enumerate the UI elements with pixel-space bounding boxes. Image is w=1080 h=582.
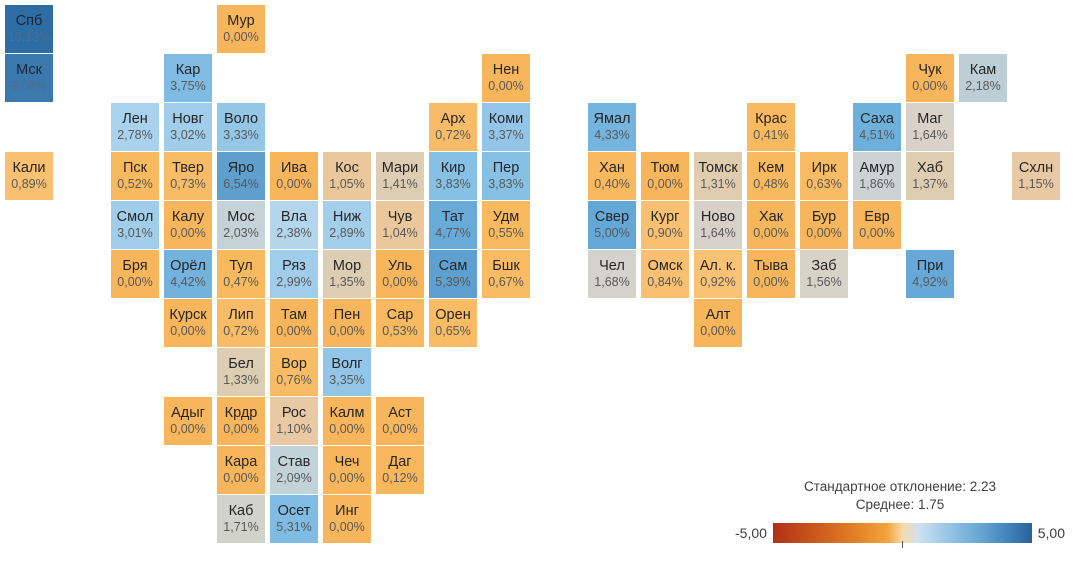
region-tile-label: Кали [12, 160, 45, 177]
region-tile-label: Хаб [917, 160, 943, 177]
region-tile-value: 2,89% [329, 226, 364, 241]
region-tile[interactable]: Ирк0,63% [800, 152, 848, 200]
chart-legend: Стандартное отклонение: 2.23 Среднее: 1.… [735, 478, 1065, 558]
region-tile-value: 0,72% [435, 128, 470, 143]
region-tile-label: Ал. к. [700, 258, 737, 275]
region-tile-value: 0,12% [382, 471, 417, 486]
region-tile[interactable]: Мск9,08% [5, 54, 53, 102]
region-tile-value: 6,54% [223, 177, 258, 192]
region-tile[interactable]: Бря0,00% [111, 250, 159, 298]
region-tile-label: Амур [860, 160, 895, 177]
region-tile[interactable]: Тат4,77% [429, 201, 477, 249]
region-tile-value: 4,42% [170, 275, 205, 290]
region-tile-label: Ново [701, 209, 735, 226]
region-tile[interactable]: Чук0,00% [906, 54, 954, 102]
region-tile-label: Маг [917, 111, 943, 128]
region-tile-value: 0,00% [329, 520, 364, 535]
region-tile-label: Лен [122, 111, 148, 128]
region-tile-value: 1,71% [223, 520, 258, 535]
region-tile[interactable]: Сар0,53% [376, 299, 424, 347]
region-tile[interactable]: Пен0,00% [323, 299, 371, 347]
region-tile-value: 9,08% [11, 79, 46, 94]
region-tile-label: Ряз [282, 258, 306, 275]
region-tile-label: Тыва [754, 258, 788, 275]
region-tile-value: 0,48% [753, 177, 788, 192]
region-tile[interactable]: Нен0,00% [482, 54, 530, 102]
region-tile-value: 1,68% [594, 275, 629, 290]
region-tile-label: Ниж [333, 209, 361, 226]
region-tile[interactable]: Саха4,51% [853, 103, 901, 151]
region-tile-value: 0,00% [382, 275, 417, 290]
region-tile[interactable]: Омск0,84% [641, 250, 689, 298]
region-tile[interactable]: Там0,00% [270, 299, 318, 347]
region-tile[interactable]: Курск0,00% [164, 299, 212, 347]
region-tile-value: 0,41% [753, 128, 788, 143]
region-tile-value: 1,33% [223, 373, 258, 388]
region-tile[interactable]: Яро6,54% [217, 152, 265, 200]
region-tile[interactable]: Кос1,05% [323, 152, 371, 200]
region-tile[interactable]: Пск0,52% [111, 152, 159, 200]
region-tile[interactable]: Ямал4,33% [588, 103, 636, 151]
region-tile[interactable]: Маг1,64% [906, 103, 954, 151]
region-tile-label: Кург [651, 209, 680, 226]
region-tile-value: 3,02% [170, 128, 205, 143]
color-scale-tick [902, 541, 903, 548]
region-tile[interactable]: Калу0,00% [164, 201, 212, 249]
region-tile-value: 0,00% [170, 324, 205, 339]
region-tile-label: Кам [970, 62, 996, 79]
region-tile-value: 3,83% [488, 177, 523, 192]
region-tile-value: 4,77% [435, 226, 470, 241]
region-tile-value: 1,10% [276, 422, 311, 437]
region-tile-value: 1,64% [700, 226, 735, 241]
region-tile-label: Чел [599, 258, 625, 275]
region-tile-label: Лип [228, 307, 253, 324]
region-tile-label: Арх [441, 111, 466, 128]
region-tile-label: Заб [811, 258, 836, 275]
region-tile-label: Ямал [594, 111, 631, 128]
region-tile-value: 0,53% [382, 324, 417, 339]
region-tile[interactable]: Бшк0,67% [482, 250, 530, 298]
region-tile[interactable]: Инг0,00% [323, 495, 371, 543]
region-tile-value: 2,38% [276, 226, 311, 241]
region-tile-value: 1,64% [912, 128, 947, 143]
region-tile-value: 0,00% [329, 422, 364, 437]
region-tile-value: 0,00% [859, 226, 894, 241]
region-tile-value: 0,00% [753, 275, 788, 290]
region-tile[interactable]: Рос1,10% [270, 397, 318, 445]
region-tile-value: 2,18% [965, 79, 1000, 94]
region-tile-label: Мор [333, 258, 361, 275]
region-tile[interactable]: Тюм0,00% [641, 152, 689, 200]
region-tile-value: 3,37% [488, 128, 523, 143]
region-tile-value: 1,05% [329, 177, 364, 192]
region-tile[interactable]: Ал. к.0,92% [694, 250, 742, 298]
region-tile-value: 0,00% [170, 226, 205, 241]
region-tile-label: Крдр [225, 405, 258, 422]
region-tile-label: Чув [388, 209, 413, 226]
region-tile-label: Кем [758, 160, 784, 177]
region-tile[interactable]: Кем0,48% [747, 152, 795, 200]
region-tile-value: 3,01% [117, 226, 152, 241]
region-tile-value: 2,78% [117, 128, 152, 143]
region-tile-value: 5,31% [276, 520, 311, 535]
region-tile-value: 3,33% [223, 128, 258, 143]
region-tile-label: При [917, 258, 944, 275]
region-tile-value: 0,00% [647, 177, 682, 192]
region-tile-value: 0,00% [329, 471, 364, 486]
region-tile-label: Орёл [170, 258, 206, 275]
region-tile-label: Евр [864, 209, 889, 226]
region-tile[interactable]: Воло3,33% [217, 103, 265, 151]
region-tile[interactable]: Орёл4,42% [164, 250, 212, 298]
region-tile-label: Пен [334, 307, 361, 324]
region-tile-label: Сар [387, 307, 414, 324]
region-tile[interactable]: При4,92% [906, 250, 954, 298]
region-tile-value: 0,00% [912, 79, 947, 94]
region-tile-value: 0,67% [488, 275, 523, 290]
region-tile-label: Став [278, 454, 311, 471]
region-tile-label: Вор [281, 356, 307, 373]
region-tile-value: 1,86% [859, 177, 894, 192]
region-tile[interactable]: Евр0,00% [853, 201, 901, 249]
region-tile-value: 13,13% [8, 30, 50, 45]
region-tile-label: Ива [281, 160, 307, 177]
region-tile[interactable]: Кам2,18% [959, 54, 1007, 102]
region-tile-value: 0,55% [488, 226, 523, 241]
region-tile-label: Тул [229, 258, 252, 275]
region-tile-label: Мос [227, 209, 255, 226]
region-tile[interactable]: Ряз2,99% [270, 250, 318, 298]
region-tile-label: Бря [122, 258, 147, 275]
region-tile-label: Хак [759, 209, 783, 226]
region-tile-label: Воло [224, 111, 258, 128]
region-tile[interactable]: Лен2,78% [111, 103, 159, 151]
region-tile-label: Томск [698, 160, 737, 177]
region-tile-value: 0,92% [700, 275, 735, 290]
color-scale-max-label: 5,00 [1038, 525, 1065, 541]
region-tile-label: Каб [229, 503, 254, 520]
region-tile-value: 0,00% [382, 422, 417, 437]
region-tile-value: 0,90% [647, 226, 682, 241]
region-tile-label: Свер [595, 209, 629, 226]
color-scale-min-label: -5,00 [735, 525, 767, 541]
region-tile-value: 5,00% [594, 226, 629, 241]
region-tile[interactable]: Твер0,73% [164, 152, 212, 200]
region-tile-label: Бел [228, 356, 254, 373]
region-tile[interactable]: Смол3,01% [111, 201, 159, 249]
region-tile[interactable]: Крас0,41% [747, 103, 795, 151]
region-tile-value: 0,52% [117, 177, 152, 192]
region-tile-value: 1,56% [806, 275, 841, 290]
region-tile-value: 0,84% [647, 275, 682, 290]
region-tile-label: Мур [227, 13, 254, 30]
region-tile-label: Кара [225, 454, 258, 471]
region-tile[interactable]: Лип0,72% [217, 299, 265, 347]
region-tile-label: Аст [388, 405, 412, 422]
region-tile-label: Курск [169, 307, 206, 324]
region-tile[interactable]: Даг0,12% [376, 446, 424, 494]
region-tile-value: 2,99% [276, 275, 311, 290]
region-tile[interactable]: Ива0,00% [270, 152, 318, 200]
region-tile-value: 0,00% [117, 275, 152, 290]
region-tile-label: Калу [172, 209, 204, 226]
region-tile-label: Бшк [492, 258, 520, 275]
region-tile-value: 0,00% [276, 324, 311, 339]
region-tile-value: 0,00% [700, 324, 735, 339]
region-tile-label: Мари [382, 160, 418, 177]
region-tile-label: Осет [278, 503, 311, 520]
region-tile[interactable]: Ниж2,89% [323, 201, 371, 249]
region-tile-value: 0,65% [435, 324, 470, 339]
region-tile[interactable]: Адыг0,00% [164, 397, 212, 445]
region-tile[interactable]: Арх0,72% [429, 103, 477, 151]
region-tile-label: Калм [330, 405, 365, 422]
region-tile[interactable]: Мари1,41% [376, 152, 424, 200]
region-tile[interactable]: Бел1,33% [217, 348, 265, 396]
region-tile-label: Чук [918, 62, 941, 79]
region-tile-value: 0,89% [11, 177, 46, 192]
region-tile[interactable]: Тыва0,00% [747, 250, 795, 298]
region-tile[interactable]: Удм0,55% [482, 201, 530, 249]
region-tile[interactable]: Кара0,00% [217, 446, 265, 494]
region-tile-label: Даг [388, 454, 411, 471]
region-tile-label: Кир [441, 160, 466, 177]
region-tile-label: Тат [442, 209, 465, 226]
region-tile[interactable]: Уль0,00% [376, 250, 424, 298]
region-tile-value: 0,76% [276, 373, 311, 388]
region-tile[interactable]: Кург0,90% [641, 201, 689, 249]
region-tile-value: 0,00% [753, 226, 788, 241]
region-tile-value: 1,31% [700, 177, 735, 192]
region-tile[interactable]: Бур0,00% [800, 201, 848, 249]
region-tile-value: 1,04% [382, 226, 417, 241]
region-tile[interactable]: Схлн1,15% [1012, 152, 1060, 200]
region-tile-label: Алт [706, 307, 731, 324]
region-tile-value: 0,47% [223, 275, 258, 290]
region-tile-value: 4,51% [859, 128, 894, 143]
region-tile-label: Мск [16, 62, 42, 79]
region-tile-value: 2,03% [223, 226, 258, 241]
region-tile[interactable]: Аст0,00% [376, 397, 424, 445]
region-tile-label: Там [281, 307, 307, 324]
region-tile-label: Твер [172, 160, 204, 177]
region-tile-label: Схлн [1019, 160, 1053, 177]
region-tile-label: Новг [172, 111, 204, 128]
region-tile-value: 4,33% [594, 128, 629, 143]
region-tile-label: Яро [228, 160, 255, 177]
region-tile-value: 1,41% [382, 177, 417, 192]
region-tile[interactable]: Чел1,68% [588, 250, 636, 298]
region-tile-value: 3,83% [435, 177, 470, 192]
region-tile-label: Рос [282, 405, 306, 422]
region-tile-label: Уль [388, 258, 412, 275]
region-tile[interactable]: Хан0,40% [588, 152, 636, 200]
mean-label: Среднее: 1.75 [735, 496, 1065, 514]
region-tile[interactable]: Крдр0,00% [217, 397, 265, 445]
region-tile-value: 0,00% [488, 79, 523, 94]
region-tile-label: Сам [439, 258, 468, 275]
region-tile-label: Удм [493, 209, 520, 226]
region-tile[interactable]: Кир3,83% [429, 152, 477, 200]
region-tile-label: Смол [117, 209, 154, 226]
region-tile-value: 0,72% [223, 324, 258, 339]
region-tile[interactable]: Волг3,35% [323, 348, 371, 396]
region-tile[interactable]: Хаб1,37% [906, 152, 954, 200]
region-tile[interactable]: Томск1,31% [694, 152, 742, 200]
region-tile-value: 1,35% [329, 275, 364, 290]
region-tile[interactable]: Ново1,64% [694, 201, 742, 249]
region-tile[interactable]: Заб1,56% [800, 250, 848, 298]
region-tile[interactable]: Пер3,83% [482, 152, 530, 200]
region-tile-label: Саха [860, 111, 894, 128]
region-tile[interactable]: Кар3,75% [164, 54, 212, 102]
region-tile[interactable]: Осет5,31% [270, 495, 318, 543]
region-tile-label: Пер [493, 160, 520, 177]
region-tile-label: Тюм [651, 160, 680, 177]
region-tile-label: Адыг [171, 405, 205, 422]
region-tile[interactable]: Калм0,00% [323, 397, 371, 445]
region-tile-label: Спб [16, 13, 43, 30]
region-tile[interactable]: Чув1,04% [376, 201, 424, 249]
region-tile[interactable]: Став2,09% [270, 446, 318, 494]
region-tile-value: 3,75% [170, 79, 205, 94]
region-tile-value: 0,00% [170, 422, 205, 437]
region-tile[interactable]: Спб13,13% [5, 5, 53, 53]
region-tile-label: Волг [331, 356, 362, 373]
region-tile-value: 1,15% [1018, 177, 1053, 192]
region-tile[interactable]: Чеч0,00% [323, 446, 371, 494]
region-tile[interactable]: Хак0,00% [747, 201, 795, 249]
region-tile-value: 0,00% [276, 177, 311, 192]
region-tile-label: Бур [812, 209, 836, 226]
region-tile-label: Коми [489, 111, 524, 128]
region-tile[interactable]: Каб1,71% [217, 495, 265, 543]
region-tile-value: 0,00% [223, 30, 258, 45]
region-tile[interactable]: Мор1,35% [323, 250, 371, 298]
region-tile-label: Чеч [335, 454, 360, 471]
region-tile-label: Кар [176, 62, 201, 79]
region-tile[interactable]: Вла2,38% [270, 201, 318, 249]
region-tile[interactable]: Коми3,37% [482, 103, 530, 151]
region-tile-label: Ирк [812, 160, 837, 177]
region-tile-value: 0,00% [329, 324, 364, 339]
region-tile-value: 3,35% [329, 373, 364, 388]
region-tile-label: Инг [335, 503, 359, 520]
region-tile-label: Омск [648, 258, 683, 275]
region-tile-value: 0,00% [806, 226, 841, 241]
region-tile[interactable]: Свер5,00% [588, 201, 636, 249]
region-tile[interactable]: Вор0,76% [270, 348, 318, 396]
region-tile[interactable]: Новг3,02% [164, 103, 212, 151]
region-tile-label: Пск [123, 160, 147, 177]
region-tile-label: Вла [281, 209, 307, 226]
region-tile[interactable]: Сам5,39% [429, 250, 477, 298]
region-tile-label: Кос [335, 160, 359, 177]
region-tile-label: Орен [435, 307, 470, 324]
region-tile-value: 0,00% [223, 422, 258, 437]
region-tile-label: Нен [493, 62, 520, 79]
region-tile-value: 0,40% [594, 177, 629, 192]
region-tile[interactable]: Мур0,00% [217, 5, 265, 53]
region-tile-value: 0,63% [806, 177, 841, 192]
region-tile-value: 0,00% [223, 471, 258, 486]
std-dev-label: Стандартное отклонение: 2.23 [735, 478, 1065, 496]
region-tile-value: 1,37% [912, 177, 947, 192]
region-tile[interactable]: Кали0,89% [5, 152, 53, 200]
region-tile-value: 4,92% [912, 275, 947, 290]
region-tile-label: Крас [755, 111, 787, 128]
region-tile[interactable]: Амур1,86% [853, 152, 901, 200]
region-tile[interactable]: Мос2,03% [217, 201, 265, 249]
region-tile[interactable]: Тул0,47% [217, 250, 265, 298]
color-scale: -5,00 5,00 [735, 520, 1065, 546]
region-tile-value: 0,73% [170, 177, 205, 192]
region-tile-value: 5,39% [435, 275, 470, 290]
color-scale-gradient [773, 523, 1032, 543]
region-tile-value: 2,09% [276, 471, 311, 486]
region-tile[interactable]: Орен0,65% [429, 299, 477, 347]
region-tile-label: Хан [599, 160, 625, 177]
region-tile[interactable]: Алт0,00% [694, 299, 742, 347]
